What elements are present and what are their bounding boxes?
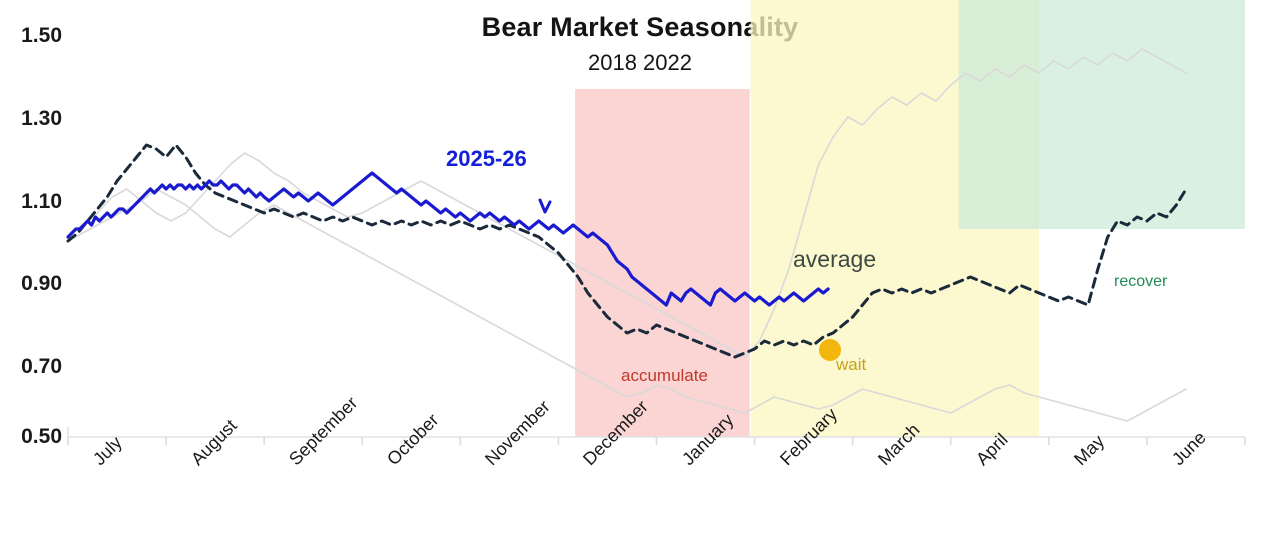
- series-label-2025-26: 2025-26: [446, 146, 527, 172]
- plot-area: [0, 0, 1280, 559]
- y-tick-label: 1.30: [4, 107, 62, 131]
- marker-label-wait: wait: [836, 355, 866, 375]
- y-axis: 1.50 1.30 1.10 0.90 0.70 0.50: [0, 0, 62, 559]
- y-tick-label: 1.10: [4, 190, 62, 214]
- chart-root: Bear Market Seasonality 2018 2022 1.50 1…: [0, 0, 1280, 559]
- region-label-average: average: [793, 246, 876, 273]
- y-tick-label: 0.50: [4, 425, 62, 449]
- series-pointer-2025-26: [540, 200, 550, 212]
- y-tick-label: 0.70: [4, 355, 62, 379]
- shaded-region-recover: [959, 0, 1245, 229]
- region-label-accumulate: accumulate: [621, 366, 708, 386]
- region-label-recover: recover: [1114, 273, 1167, 291]
- y-tick-label: 1.50: [4, 24, 62, 48]
- y-tick-label: 0.90: [4, 272, 62, 296]
